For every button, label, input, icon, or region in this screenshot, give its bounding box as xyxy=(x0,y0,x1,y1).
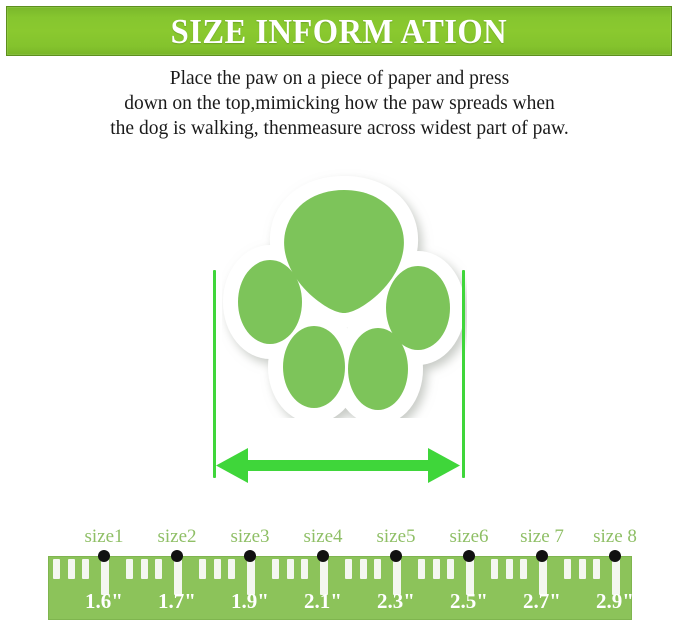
ruler-tick-minor xyxy=(447,559,454,579)
size-marker-dot-2 xyxy=(171,550,183,562)
ruler-tick-minor xyxy=(491,559,498,579)
ruler-tick-minor xyxy=(579,559,586,579)
ruler-tick-minor xyxy=(287,559,294,579)
instruction-line-2: down on the top,mimicking how the paw sp… xyxy=(0,91,679,116)
ruler-tick-minor xyxy=(433,559,440,579)
size-label-row: size1size2size3size4size5size6size 7size… xyxy=(0,525,679,553)
ruler-tick-minor xyxy=(155,559,162,579)
size-value-2: 1.7" xyxy=(158,587,196,615)
page-title: SIZE INFORM ATION xyxy=(171,14,507,49)
ruler-tick-minor xyxy=(141,559,148,579)
size-label-3: size3 xyxy=(230,525,269,549)
measure-guide-line-right xyxy=(462,270,465,478)
ruler-tick-minor xyxy=(506,559,513,579)
size-marker-dot-3 xyxy=(244,550,256,562)
size-value-6: 2.5" xyxy=(450,587,488,615)
size-label-1: size1 xyxy=(84,525,123,549)
paw-illustration-area xyxy=(0,160,679,500)
instruction-line-3: the dog is walking, thenmeasure across w… xyxy=(0,116,679,141)
double-headed-measure-arrow-icon xyxy=(216,448,460,484)
size-marker-dot-8 xyxy=(609,550,621,562)
ruler-tick-minor xyxy=(520,559,527,579)
ruler-tick-minor xyxy=(345,559,352,579)
dog-paw-print-icon xyxy=(222,168,467,418)
instructions-text: Place the paw on a piece of paper and pr… xyxy=(0,66,679,141)
size-label-4: size4 xyxy=(303,525,342,549)
size-ruler: size1size2size3size4size5size6size 7size… xyxy=(0,525,679,623)
ruler-tick-minor xyxy=(593,559,600,579)
ruler-tick-minor xyxy=(82,559,89,579)
size-value-1: 1.6" xyxy=(85,587,123,615)
size-value-5: 2.3" xyxy=(377,587,415,615)
size-marker-dot-4 xyxy=(317,550,329,562)
size-label-6: size6 xyxy=(449,525,488,549)
ruler-tick-minor xyxy=(301,559,308,579)
size-label-8: size 8 xyxy=(593,525,637,549)
ruler-tick-minor xyxy=(374,559,381,579)
ruler-tick-minor xyxy=(418,559,425,579)
ruler-tick-minor xyxy=(53,559,60,579)
size-marker-dot-5 xyxy=(390,550,402,562)
size-label-7: size 7 xyxy=(520,525,564,549)
ruler-tick-minor xyxy=(360,559,367,579)
size-value-row: 1.6"1.7"1.9"2.1"2.3"2.5"2.7"2.9" xyxy=(0,587,679,619)
size-marker-dot-6 xyxy=(463,550,475,562)
size-value-3: 1.9" xyxy=(231,587,269,615)
ruler-tick-minor xyxy=(68,559,75,579)
size-value-7: 2.7" xyxy=(523,587,561,615)
size-value-8: 2.9" xyxy=(596,587,634,615)
size-marker-dot-7 xyxy=(536,550,548,562)
instruction-line-1: Place the paw on a piece of paper and pr… xyxy=(0,66,679,91)
ruler-tick-minor xyxy=(199,559,206,579)
ruler-tick-minor xyxy=(214,559,221,579)
size-marker-dot-1 xyxy=(98,550,110,562)
ruler-tick-minor xyxy=(126,559,133,579)
header-banner: SIZE INFORM ATION xyxy=(6,6,672,56)
size-label-5: size5 xyxy=(376,525,415,549)
size-label-2: size2 xyxy=(157,525,196,549)
size-value-4: 2.1" xyxy=(304,587,342,615)
ruler-tick-minor xyxy=(228,559,235,579)
ruler-tick-minor xyxy=(272,559,279,579)
measure-guide-line-left xyxy=(213,270,216,478)
ruler-tick-minor xyxy=(564,559,571,579)
